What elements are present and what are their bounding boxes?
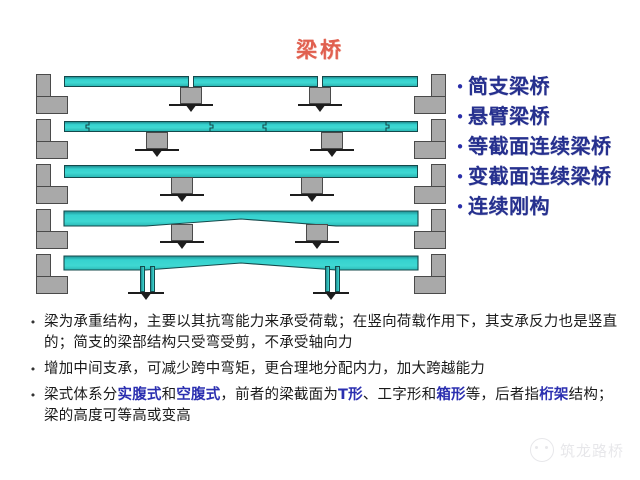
rigid-frame-column-2b (335, 266, 340, 292)
bridge-type-item-cantilever[interactable]: • 悬臂梁桥 (452, 104, 640, 130)
diagram-cantilever-beam-bridge (36, 115, 446, 163)
pier-1 (171, 177, 193, 197)
pier-2 (309, 87, 331, 107)
bridge-type-item-variable-section-continuous[interactable]: • 变截面连续梁桥 (452, 164, 640, 190)
highlight-term: 空腹式 (176, 387, 220, 403)
bullet-icon: • (452, 164, 468, 190)
pier-1 (146, 132, 168, 152)
bullet-icon: • (452, 104, 468, 130)
bridge-type-item-simply-supported[interactable]: • 简支梁桥 (452, 74, 640, 100)
pier-2 (306, 224, 328, 244)
diagram-continuous-rigid-frame-bridge (36, 250, 446, 298)
bullet-icon: • (452, 194, 468, 220)
deck-continuous (64, 121, 418, 132)
hinge-joint-1 (84, 121, 91, 132)
page-title: 梁桥 (0, 34, 640, 64)
hinge-joint-2 (208, 121, 215, 132)
pier-2 (321, 132, 343, 152)
diagram-variable-section-continuous-beam-bridge (36, 205, 446, 253)
diagram-constant-section-continuous-beam-bridge (36, 160, 446, 208)
watermark-label: 筑龙路桥 (560, 440, 624, 461)
hinge-joint-3 (261, 121, 268, 132)
abutment-left (36, 164, 66, 202)
bridge-diagram-group (36, 70, 446, 310)
abutment-right (416, 74, 446, 112)
note-text-rich: 梁式体系分实腹式和空腹式，前者的梁截面为T形、工字形和箱形等，后者指桁架结构；梁… (44, 385, 622, 427)
slide-root: 梁桥 (0, 0, 640, 480)
note-fragment: 梁式体系分 (44, 387, 118, 403)
notes-list: • 梁为承重结构，主要以其抗弯能力来承受荷载；在竖向荷载作用下，其支承反力也是竖… (22, 312, 622, 432)
deck-segment-2 (193, 76, 318, 87)
rigid-frame-column-2a (325, 266, 330, 292)
note-fragment: 和 (162, 387, 177, 403)
bullet-icon: • (22, 385, 44, 406)
bridge-type-item-continuous-rigid-frame[interactable]: • 连续刚构 (452, 194, 640, 220)
note-fragment: ，前者的梁截面为 (220, 387, 338, 403)
pier-2 (301, 177, 323, 197)
abutment-left (36, 74, 66, 112)
deck-haunched (36, 254, 446, 284)
column-support-triangle-2 (325, 292, 337, 300)
note-load-bearing: • 梁为承重结构，主要以其抗弯能力来承受荷载；在竖向荷载作用下，其支承反力也是竖… (22, 312, 622, 354)
highlight-term: 实腹式 (118, 387, 162, 403)
highlight-term: T形 (338, 387, 363, 403)
bridge-type-label: 连续刚构 (468, 194, 550, 219)
abutment-right (416, 119, 446, 157)
deck-segment-1 (64, 76, 189, 87)
rigid-frame-column-1b (150, 266, 155, 292)
column-support-triangle-1 (140, 292, 152, 300)
bullet-icon: • (22, 312, 44, 333)
deck-haunched (36, 209, 446, 239)
bridge-type-label: 悬臂梁桥 (468, 104, 550, 129)
bridge-type-label: 简支梁桥 (468, 74, 550, 99)
bullet-icon: • (22, 359, 44, 380)
highlight-term: 箱形 (436, 387, 465, 403)
note-intermediate-support: • 增加中间支承，可减少跨中弯矩，更合理地分配内力，加大跨越能力 (22, 359, 622, 380)
bridge-type-label: 等截面连续梁桥 (468, 134, 612, 159)
note-fragment: 等，后者指 (466, 387, 540, 403)
deck-continuous (64, 165, 418, 178)
deck-segment-3 (322, 76, 418, 87)
bridge-type-list: • 简支梁桥 • 悬臂梁桥 • 等截面连续梁桥 • 变截面连续梁桥 • 连续刚构 (452, 74, 640, 224)
hinge-joint-4 (384, 121, 391, 132)
rigid-frame-column-1a (140, 266, 145, 292)
bridge-type-item-constant-section-continuous[interactable]: • 等截面连续梁桥 (452, 134, 640, 160)
panda-circle-icon (530, 438, 554, 462)
pier-1 (171, 224, 193, 244)
pier-1 (180, 87, 202, 107)
watermark: 筑龙路桥 (530, 438, 624, 462)
bullet-icon: • (452, 74, 468, 100)
note-beam-system: • 梁式体系分实腹式和空腹式，前者的梁截面为T形、工字形和箱形等，后者指桁架结构… (22, 385, 622, 427)
bridge-type-label: 变截面连续梁桥 (468, 164, 612, 189)
note-fragment: 、工字形和 (363, 387, 437, 403)
diagram-simply-supported-beam-bridge (36, 70, 446, 118)
abutment-right (416, 164, 446, 202)
bullet-icon: • (452, 134, 468, 160)
note-text: 梁为承重结构，主要以其抗弯能力来承受荷载；在竖向荷载作用下，其支承反力也是竖直的… (44, 312, 622, 354)
highlight-term: 桁架 (539, 387, 568, 403)
note-text: 增加中间支承，可减少跨中弯矩，更合理地分配内力，加大跨越能力 (44, 359, 485, 380)
abutment-left (36, 119, 66, 157)
